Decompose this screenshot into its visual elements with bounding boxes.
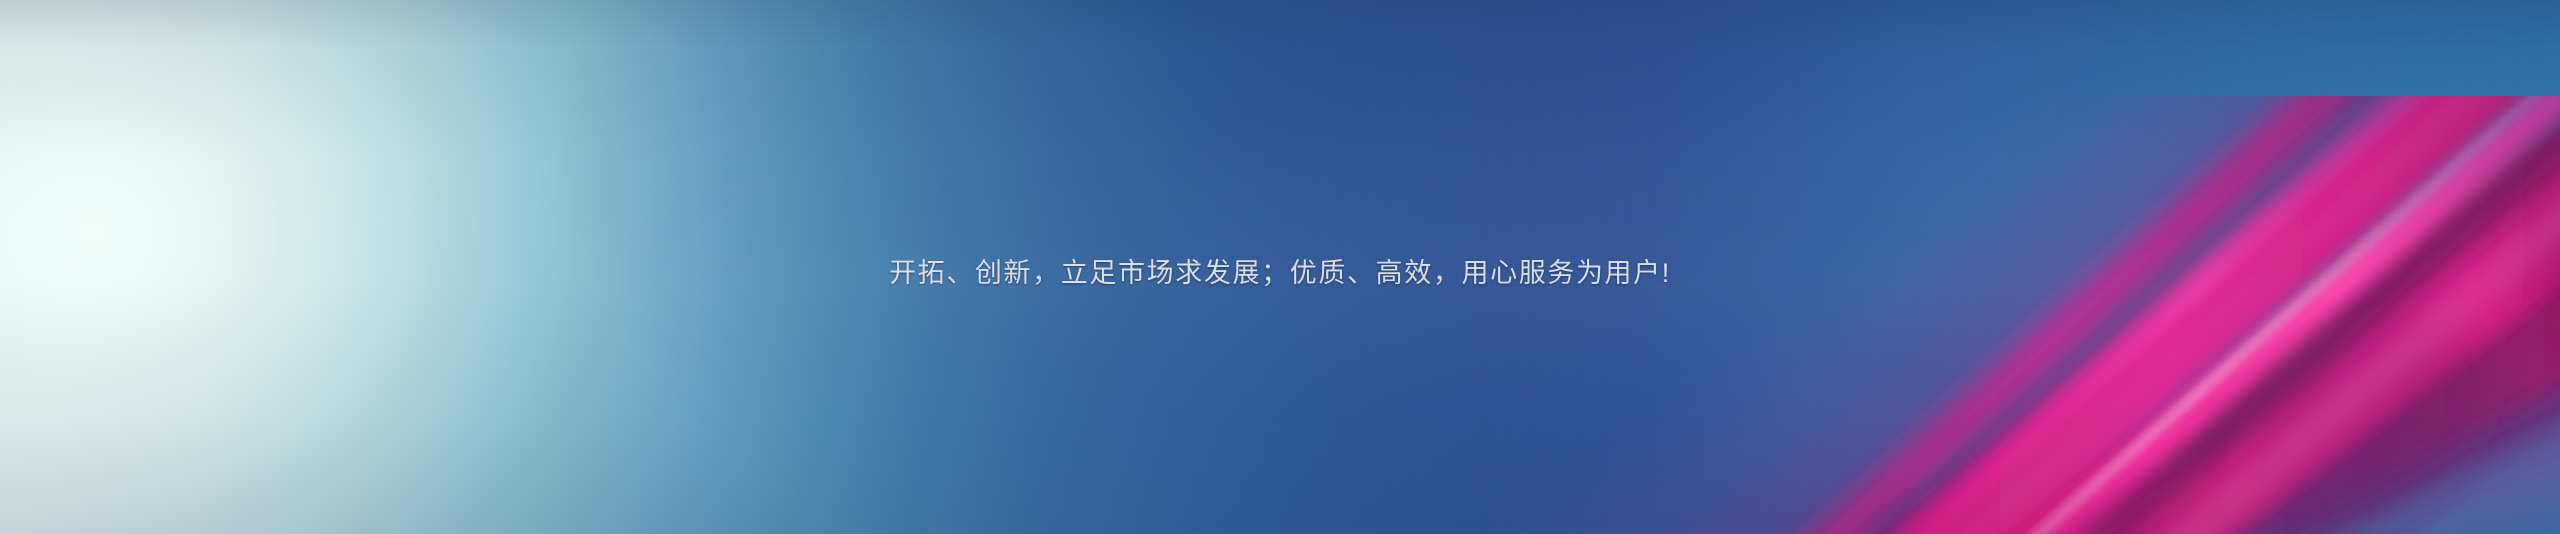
headline-container: 开拓、创新，立足市场求发展；优质、高效，用心服务为用户! (0, 0, 2560, 534)
hero-banner: 开拓、创新，立足市场求发展；优质、高效，用心服务为用户! (0, 0, 2560, 534)
banner-headline: 开拓、创新，立足市场求发展；优质、高效，用心服务为用户! (889, 257, 1671, 289)
